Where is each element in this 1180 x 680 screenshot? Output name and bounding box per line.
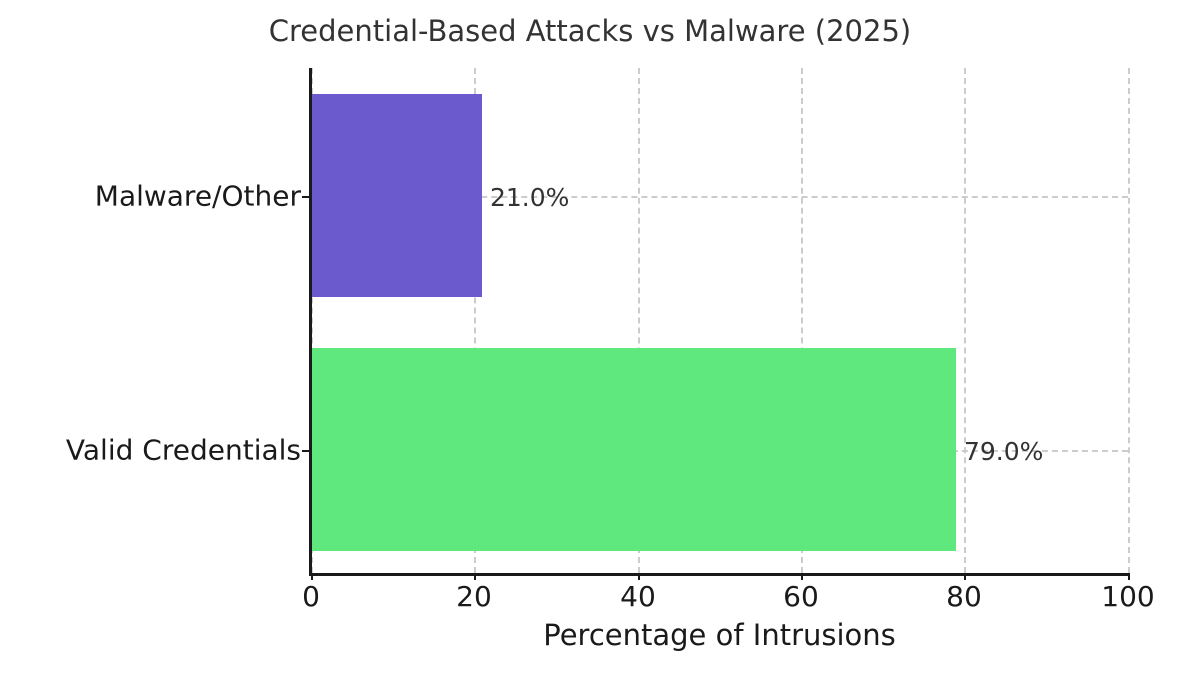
- xtick-label-20: 20: [456, 580, 492, 613]
- ytick-label-group: Malware/Other Valid Credentials: [0, 0, 301, 680]
- bar-malware-other: [311, 94, 482, 297]
- axis-spine-left: [309, 68, 312, 573]
- xtick-label-100: 100: [1101, 580, 1154, 613]
- bar-valid-credentials: [311, 348, 956, 551]
- chart-figure: Credential-Based Attacks vs Malware (202…: [0, 0, 1180, 680]
- gridline-vertical-80: [964, 68, 966, 573]
- ytick-label-malware-other: Malware/Other: [95, 180, 301, 213]
- xtick-label-40: 40: [620, 580, 656, 613]
- axis-spine-bottom: [309, 573, 1129, 576]
- bar-value-valid-credentials: 79.0%: [964, 437, 1043, 466]
- plot-area: 21.0% 79.0%: [311, 68, 1128, 573]
- xtick-label-0: 0: [302, 580, 320, 613]
- xtick-label-80: 80: [946, 580, 982, 613]
- gridline-vertical-100: [1128, 68, 1130, 573]
- bar-value-malware-other: 21.0%: [490, 183, 569, 212]
- ytick-label-valid-credentials: Valid Credentials: [66, 434, 301, 467]
- x-axis-label: Percentage of Intrusions: [311, 618, 1128, 652]
- xtick-label-60: 60: [783, 580, 819, 613]
